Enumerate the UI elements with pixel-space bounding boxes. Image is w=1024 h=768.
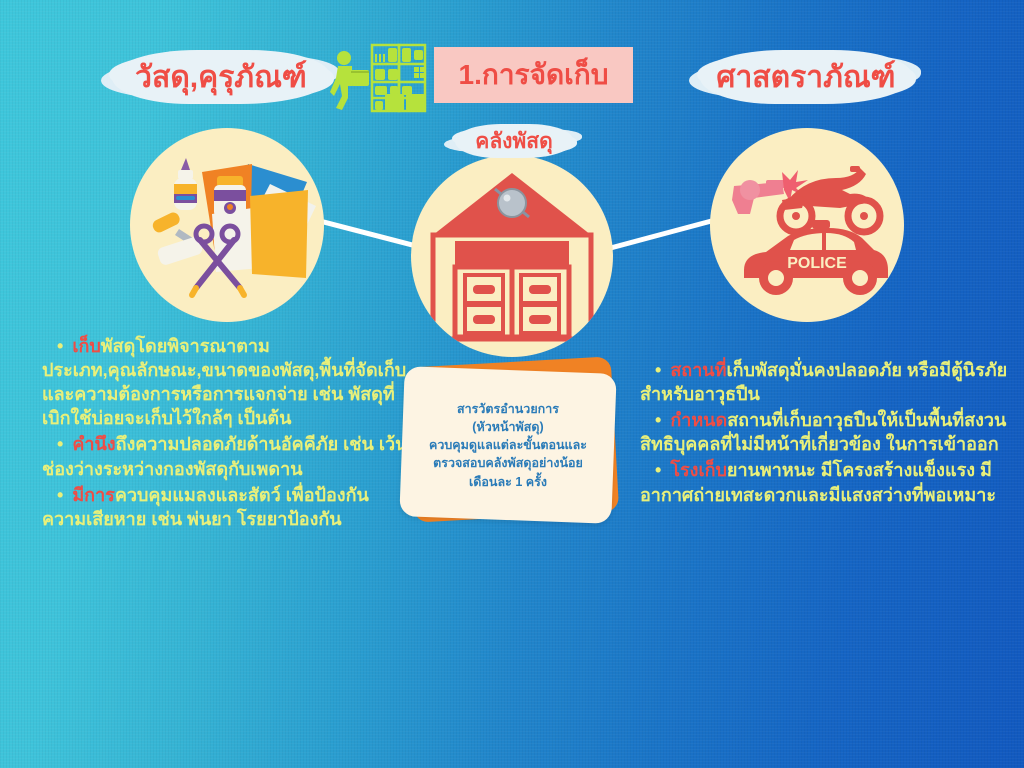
center-card-front: สารวัตรอำนวยการ (หัวหน้าพัสดุ) ควบคุมดูแ…	[399, 366, 616, 524]
right-bullet-column: • สถานที่เก็บพัสดุมั่นคงปลอดภัย หรือมีตู…	[640, 358, 1008, 509]
left-bullet-column: • เก็บพัสดุโดยพิจารณาตามประเภท,คุณลักษณะ…	[42, 334, 410, 533]
bullet-item: • คำนึงถึงความปลอดภัยด้านอัคคีภัย เช่น เ…	[42, 432, 410, 480]
bullet-marker: •	[42, 485, 68, 505]
left-circle-image	[130, 128, 324, 322]
paint-jar-icon	[214, 176, 246, 217]
weapons-vehicles-icon: POLICE	[710, 128, 904, 322]
title-right-label: ศาสตราภัณฑ์	[716, 54, 895, 101]
bullet-lead: โรงเก็บ	[670, 460, 727, 480]
bullet-item: • กำหนดสถานที่เก็บอาวุธปืนให้เป็นพื้นที่…	[640, 408, 1008, 456]
center-card-text: สารวัตรอำนวยการ (หัวหน้าพัสดุ) ควบคุมดูแ…	[423, 400, 593, 491]
title-left-materials: วัสดุ,คุรุภัณฑ์	[112, 50, 330, 104]
bullet-lead: สถานที่	[670, 360, 726, 380]
center-label-text: คลังพัสดุ	[475, 125, 552, 158]
bullet-marker: •	[42, 336, 68, 356]
bullet-marker: •	[640, 460, 666, 480]
step-title-box: 1.การจัดเก็บ	[434, 47, 633, 103]
warehouse-worker-icon	[330, 42, 430, 114]
center-circle-image	[411, 155, 613, 357]
bullet-lead: กำหนด	[670, 410, 727, 430]
police-car-label: POLICE	[787, 255, 847, 272]
bullet-item: • เก็บพัสดุโดยพิจารณาตามประเภท,คุณลักษณะ…	[42, 334, 410, 430]
center-label-warehouse: คลังพัสดุ	[455, 124, 573, 158]
bullet-marker: •	[640, 360, 666, 380]
connector-line-left	[309, 216, 426, 251]
bullet-item: • สถานที่เก็บพัสดุมั่นคงปลอดภัย หรือมีตู…	[640, 358, 1008, 406]
infographic-slide: POLICE วัสดุ,คุรุภัณฑ์	[0, 0, 1024, 768]
bullet-marker: •	[640, 410, 666, 430]
bullet-item: • โรงเก็บยานพาหนะ มีโครงสร้างแข็งแรง มีอ…	[640, 458, 1008, 506]
glue-bottle-icon	[174, 158, 197, 210]
craft-supplies-icon	[130, 128, 324, 322]
bullet-marker: •	[42, 434, 68, 454]
warehouse-building-icon	[411, 155, 613, 357]
title-right-weapons: ศาสตราภัณฑ์	[700, 50, 912, 104]
bullet-lead: เก็บ	[72, 336, 100, 356]
bullet-lead: มีการ	[72, 485, 115, 505]
bullet-lead: คำนึง	[72, 434, 115, 454]
connector-line-right	[601, 216, 720, 252]
step-title-label: 1.การจัดเก็บ	[459, 53, 609, 97]
title-left-label: วัสดุ,คุรุภัณฑ์	[135, 54, 307, 101]
right-circle-image: POLICE	[710, 128, 904, 322]
bullet-item: • มีการควบคุมแมลงและสัตว์ เพื่อป้องกันคว…	[42, 483, 410, 531]
